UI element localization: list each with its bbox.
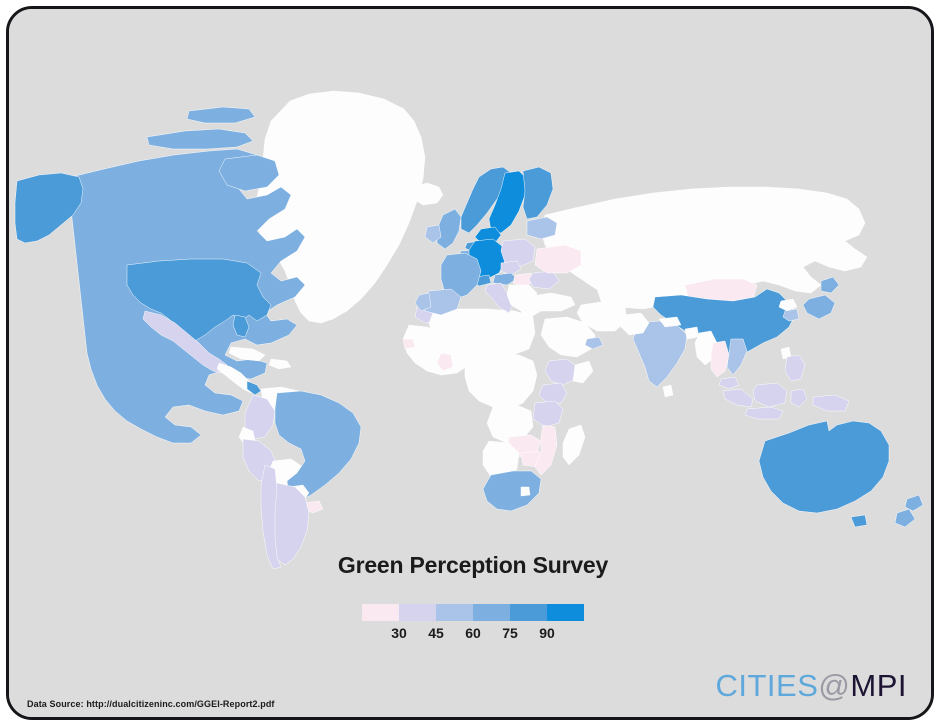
legend-color-ramp	[362, 604, 584, 621]
region-sri-lanka	[663, 385, 673, 397]
legend-swatch-4	[510, 604, 547, 621]
legend-swatch-1	[399, 604, 436, 621]
legend-swatch-3	[473, 604, 510, 621]
region-baltic-states	[527, 217, 557, 239]
legend-swatch-2	[436, 604, 473, 621]
region-ukraine	[535, 245, 581, 273]
region-senegal	[403, 339, 415, 349]
legend-tick-60: 60	[465, 624, 481, 642]
logo-cities-text: CITIES	[715, 668, 818, 703]
slide-canvas: Green Perception Survey 30 45 60 75 90 D…	[6, 6, 934, 720]
region-bangladesh	[685, 327, 699, 339]
cities-at-mpi-logo: CITIES@MPI	[715, 669, 907, 703]
logo-at-symbol: @	[818, 668, 850, 703]
legend-tick-45: 45	[428, 624, 444, 642]
legend-tick-90: 90	[539, 624, 555, 642]
logo-mpi-text: MPI	[850, 668, 907, 703]
legend-tick-labels: 30 45 60 75 90	[362, 624, 584, 642]
map-legend: Green Perception Survey 30 45 60 75 90	[9, 551, 934, 642]
legend-swatch-0	[362, 604, 399, 621]
legend-tick-30: 30	[391, 624, 407, 642]
legend-tick-75: 75	[502, 624, 518, 642]
legend-title: Green Perception Survey	[9, 551, 934, 579]
region-lesotho	[521, 487, 530, 496]
data-source-caption: Data Source: http://dualcitizeninc.com/G…	[27, 699, 275, 709]
legend-swatch-5	[547, 604, 584, 621]
